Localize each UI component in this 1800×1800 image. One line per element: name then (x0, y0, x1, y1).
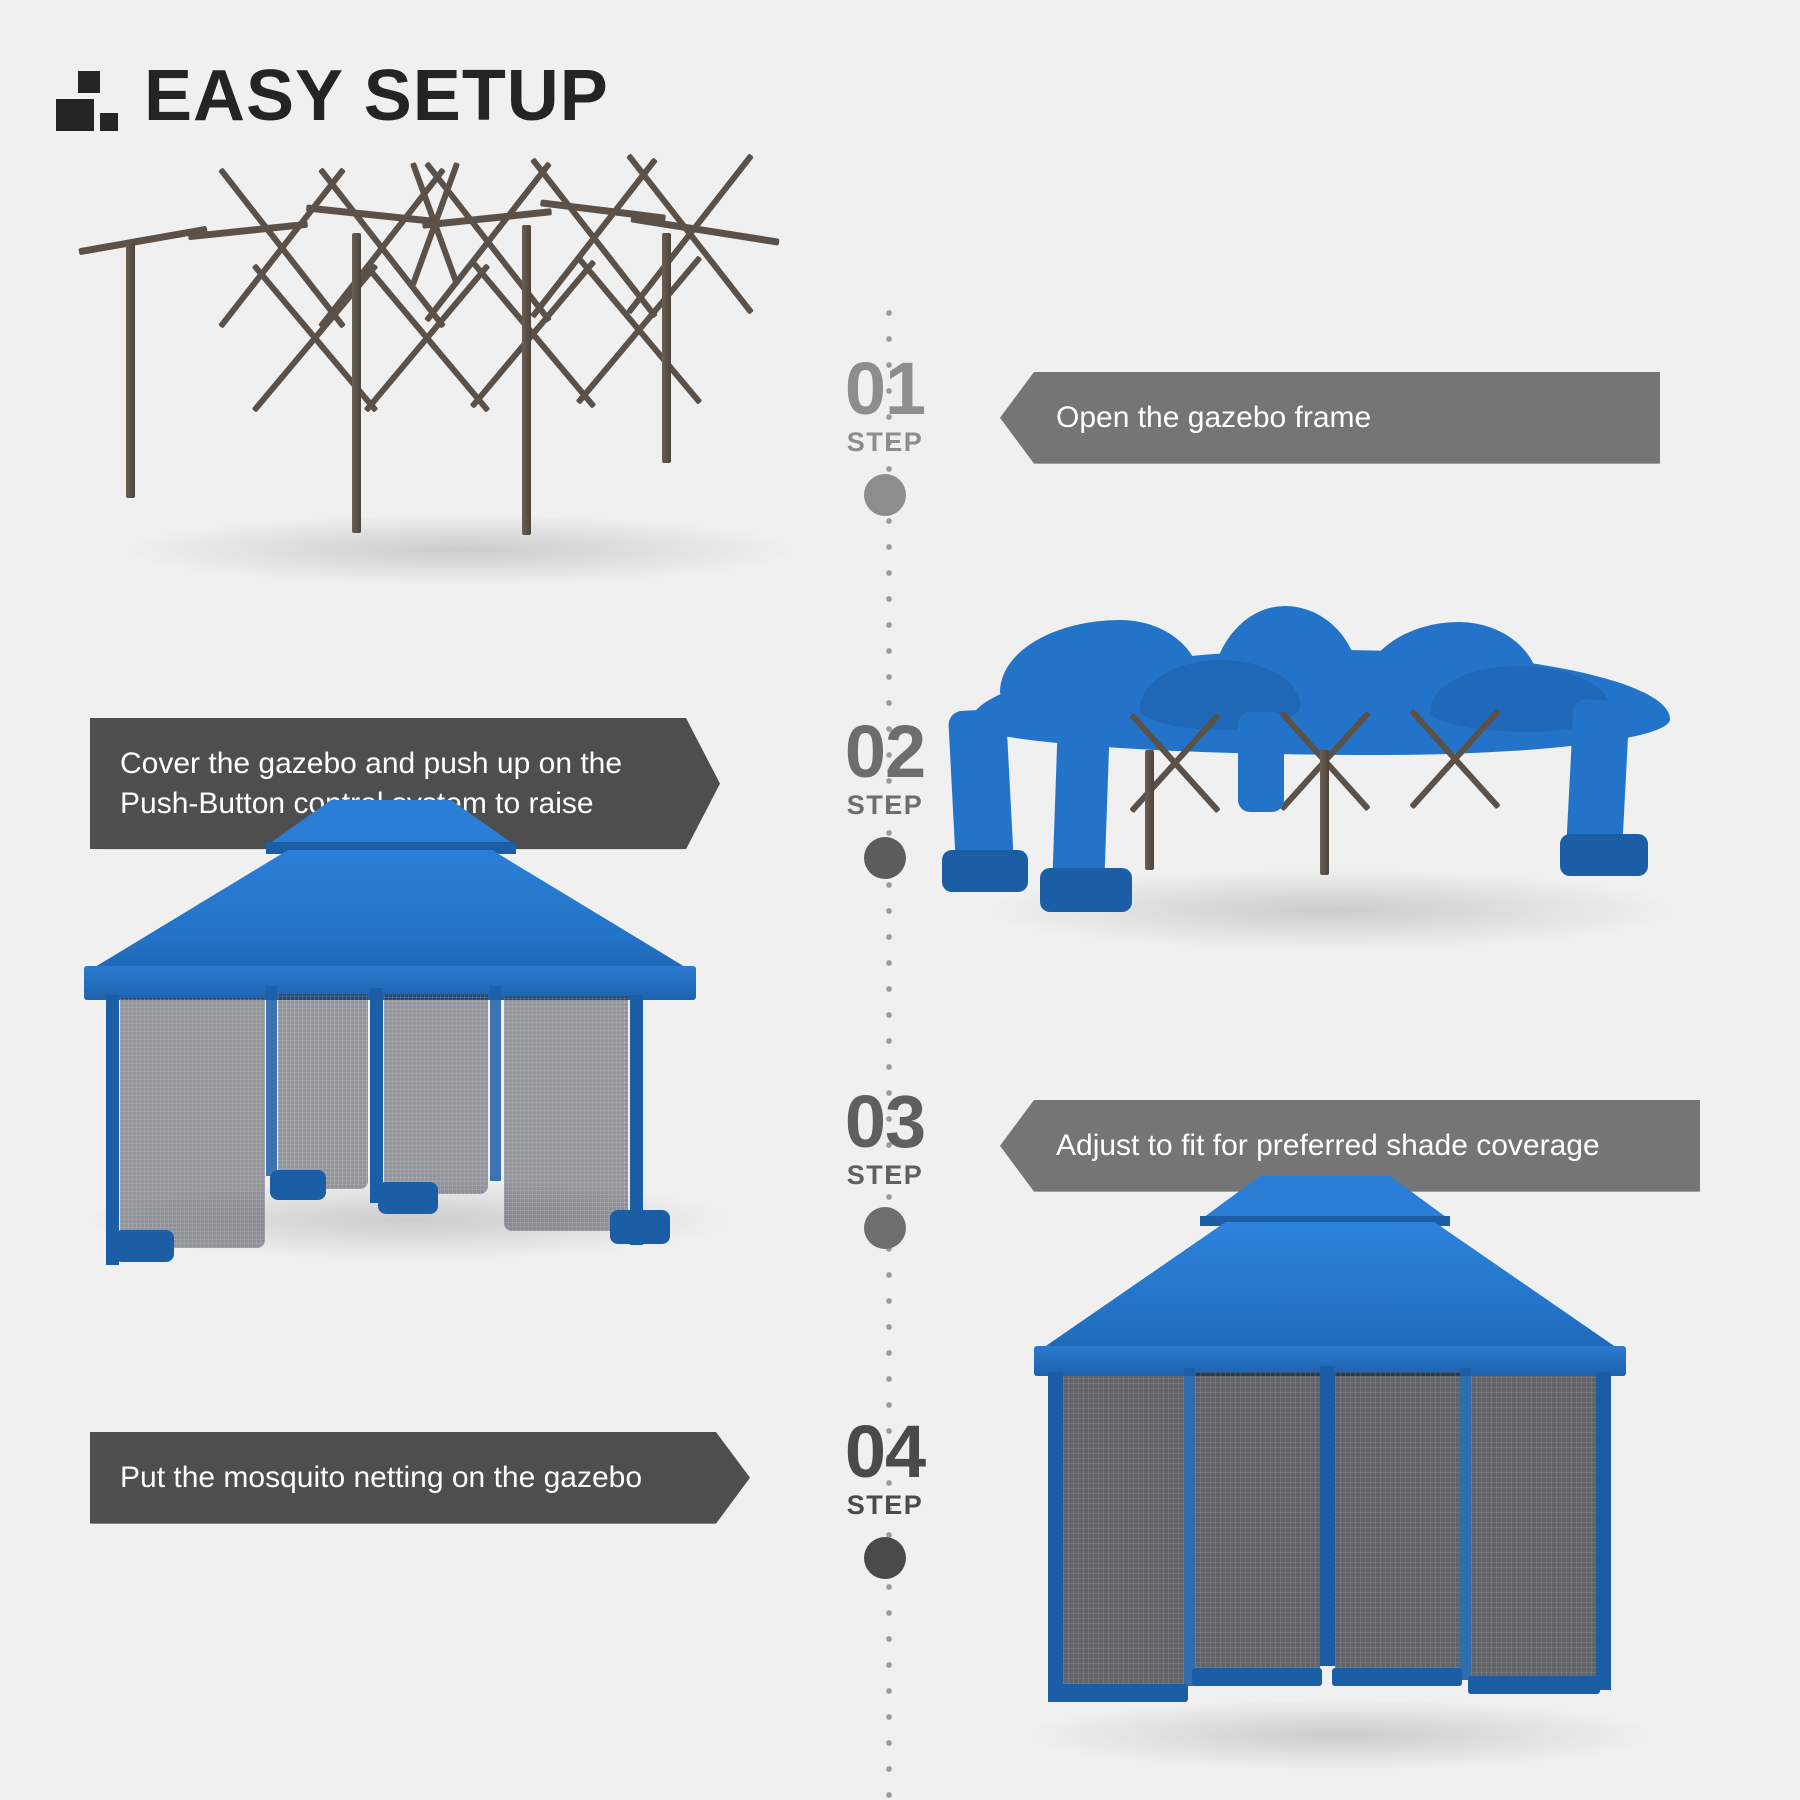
three-squares-icon (56, 69, 118, 131)
step-marker-01: 01 STEP (790, 355, 980, 516)
step-callout-04[interactable]: Put the mosquito netting on the gazebo (90, 1432, 750, 1524)
raised-blue-gazebo-with-curtains-photo (70, 790, 770, 1270)
folded-gazebo-frame-photo (70, 185, 850, 585)
step-number-03: 03 (790, 1088, 980, 1156)
step-callout-01[interactable]: Open the gazebo frame (1000, 372, 1660, 464)
step-dot-03 (864, 1207, 906, 1249)
page-header: EASY SETUP (56, 62, 609, 131)
step-marker-04: 04 STEP (790, 1418, 980, 1579)
step-dot-02 (864, 837, 906, 879)
infographic-page: EASY SETUP (0, 0, 1800, 1800)
blue-gazebo-with-mosquito-netting-photo (1020, 1160, 1680, 1780)
step-callout-text-04: Put the mosquito netting on the gazebo (120, 1458, 642, 1498)
step-word-01: STEP (790, 427, 980, 458)
step-marker-03: 03 STEP (790, 1088, 980, 1249)
step-word-04: STEP (790, 1490, 980, 1521)
step-number-01: 01 (790, 355, 980, 423)
step-callout-text-01: Open the gazebo frame (1056, 398, 1371, 438)
frame-with-blue-canopy-draped-photo (960, 600, 1700, 980)
step-dot-04 (864, 1537, 906, 1579)
page-title: EASY SETUP (144, 62, 609, 131)
step-number-04: 04 (790, 1418, 980, 1486)
step-dot-01 (864, 474, 906, 516)
step-word-03: STEP (790, 1160, 980, 1191)
